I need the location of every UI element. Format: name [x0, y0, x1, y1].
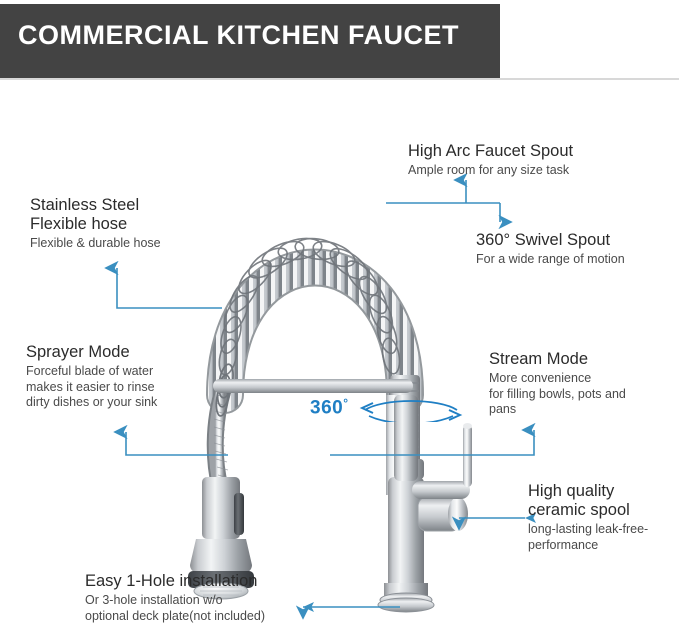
mode-toggle-button	[234, 493, 244, 535]
callout-subtitle: More convenience for filling bowls, pots…	[489, 371, 679, 418]
spring-coil-arc	[216, 235, 405, 395]
callout-subtitle: Or 3-hole installation w/o optional deck…	[85, 593, 340, 624]
callout-subtitle: long-lasting leak-free- performance	[528, 522, 679, 553]
callout-subtitle: Forceful blade of water makes it easier …	[26, 364, 241, 411]
rotation-arrows-icon	[357, 396, 465, 422]
callout-subtitle: Ample room for any size task	[408, 163, 658, 179]
callout-sprayer-mode: Sprayer Mode Forceful blade of water mak…	[26, 343, 241, 411]
page-header: COMMERCIAL KITCHEN FAUCET AIMADI INSPIRE…	[0, 0, 679, 80]
page-title: COMMERCIAL KITCHEN FAUCET	[18, 20, 488, 51]
brand-logo: AIMADI INSPIRED BEAUTY	[500, 4, 679, 78]
swivel-360-badge: 360°	[310, 396, 465, 422]
callout-title: Stainless Steel Flexible hose	[30, 196, 245, 234]
callout-subtitle: Flexible & durable hose	[30, 236, 245, 252]
callout-stainless-steel-flexible-hose: Stainless Steel Flexible hose Flexible &…	[30, 196, 245, 252]
badge-360-unit: °	[343, 396, 348, 410]
callout-title: High quality ceramic spool	[528, 482, 679, 520]
callout-360-swivel-spout: 360° Swivel Spout For a wide range of mo…	[476, 231, 679, 268]
callout-high-quality-ceramic-spool: High quality ceramic spool long-lasting …	[528, 482, 679, 553]
callout-title: High Arc Faucet Spout	[408, 142, 658, 161]
callout-title: 360° Swivel Spout	[476, 231, 679, 250]
callout-stream-mode: Stream Mode More convenience for filling…	[489, 350, 679, 418]
header-divider	[0, 78, 679, 80]
rigid-spout-arm	[213, 379, 413, 393]
callout-title: Easy 1-Hole installation	[85, 572, 340, 591]
callout-high-arc-faucet-spout: High Arc Faucet Spout Ample room for any…	[408, 142, 658, 179]
badge-360-value: 360	[310, 397, 343, 418]
ceramic-cartridge-hub	[418, 497, 468, 531]
callout-title: Stream Mode	[489, 350, 679, 369]
callout-title: Sprayer Mode	[26, 343, 241, 362]
callout-easy-1-hole-installation: Easy 1-Hole installation Or 3-hole insta…	[85, 572, 340, 624]
callout-subtitle: For a wide range of motion	[476, 252, 679, 268]
